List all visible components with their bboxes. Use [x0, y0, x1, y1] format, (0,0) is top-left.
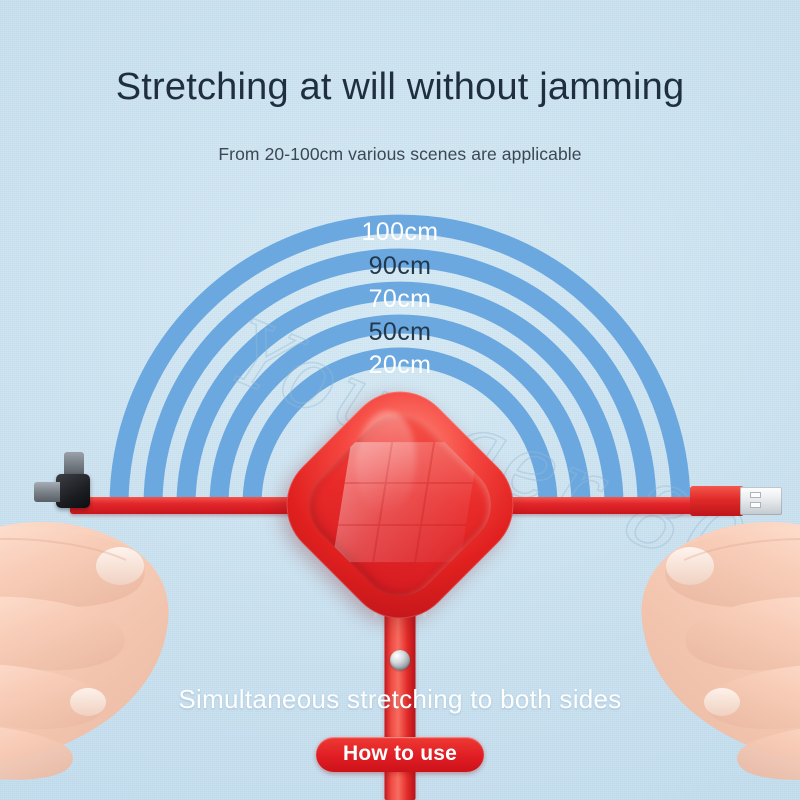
distance-label-90cm: 90cm: [300, 252, 500, 281]
micro-usb-lightning-connector: [38, 452, 114, 528]
distance-label-20cm: 20cm: [300, 351, 500, 380]
connector-body: [56, 474, 90, 508]
usb-a-connector: [690, 478, 790, 530]
connector-tip-side: [34, 482, 60, 502]
page-subtitle: From 20-100cm various scenes are applica…: [0, 144, 800, 165]
how-to-use-button[interactable]: How to use: [316, 737, 484, 772]
distance-label-70cm: 70cm: [300, 285, 500, 314]
usb-contact-slot: [750, 492, 761, 498]
usb-connector-shell: [690, 486, 744, 516]
usb-contact-slot: [750, 502, 761, 508]
distance-label-100cm: 100cm: [300, 218, 500, 247]
distance-label-50cm: 50cm: [300, 318, 500, 347]
page-title: Stretching at will without jamming: [0, 66, 800, 109]
lanyard-snap-button: [390, 650, 410, 670]
bottom-caption: Simultaneous stretching to both sides: [0, 684, 800, 715]
usb-metal-tip: [740, 487, 782, 515]
product-promo-image: Younger 80 Stretching at will without ja…: [0, 0, 800, 800]
